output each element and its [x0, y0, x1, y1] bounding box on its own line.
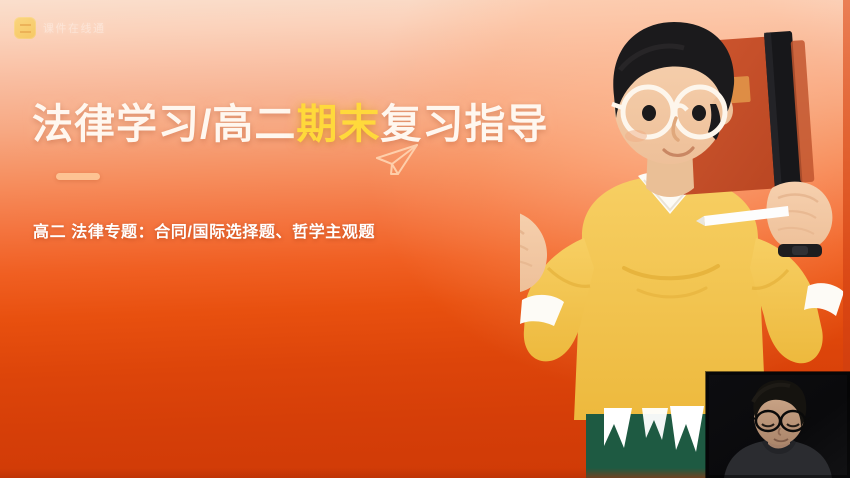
- page-subtitle: 高二 法律专题：合同/国际选择题、哲学主观题: [33, 218, 375, 242]
- brand-watermark: 课件在线通: [14, 17, 106, 39]
- video-player-stage: 课件在线通 法律学习/高二期末复习指导 高二 法律专题：合同/国际选择题、哲学主…: [0, 0, 850, 478]
- brand-watermark-text: 课件在线通: [43, 20, 106, 36]
- title-prefix: 法律学习/高二: [32, 101, 296, 147]
- paper-plane-icon: [374, 140, 420, 180]
- title-underline-dash: [56, 173, 100, 180]
- book-badge-icon: [14, 17, 36, 39]
- title-highlight: 期末: [296, 101, 380, 147]
- instructor-webcam-feed[interactable]: [706, 372, 850, 478]
- page-title: 法律学习/高二期末复习指导: [32, 90, 548, 150]
